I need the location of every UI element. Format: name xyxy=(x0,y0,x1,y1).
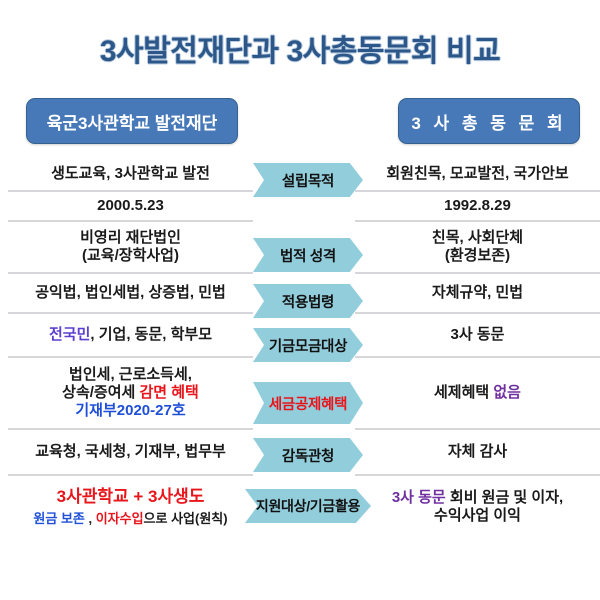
header-right-organization: 3 사 총 동 문 회 xyxy=(398,98,580,144)
left-cell-legal-status-line2: (교육/장학사업) xyxy=(80,247,181,265)
right-cell-applicable-laws: 자체규약, 민법 xyxy=(432,284,523,302)
table-row: 전국민, 기업, 동문, 학부모 xyxy=(8,314,253,358)
left-cell-supervisory-agency: 교육청, 국세청, 기재부, 법무부 xyxy=(35,443,226,461)
table-row: 교육청, 국세청, 기재부, 법무부 xyxy=(8,430,253,476)
center-label-donor-target: 기금모금대상 xyxy=(253,328,363,362)
right-cell-founding-date: 1992.8.29 xyxy=(444,197,511,215)
left-cell-founding-date: 2000.5.23 xyxy=(97,197,164,215)
left-cell-legal-status-line1: 비영리 재단법인 xyxy=(80,229,181,247)
right-cell-purpose: 회원친목, 모교발전, 국가안보 xyxy=(386,165,568,183)
table-row: 비영리 재단법인 (교육/장학사업) xyxy=(8,222,253,274)
center-label-beneficiary: 지원대상/기금활용 xyxy=(245,489,371,523)
left-cell-fund-principle-b: , xyxy=(85,511,96,526)
left-cell-tax-line2b: 감면 혜택 xyxy=(139,384,198,401)
left-cell-donor-target-rest: , 기업, 동문, 학부모 xyxy=(90,326,212,343)
page-title: 3사발전재단과 3사총동문회 비교 xyxy=(0,26,600,70)
left-cell-applicable-laws: 공익법, 법인세법, 상증법, 민법 xyxy=(35,284,226,302)
left-column: 생도교육, 3사관학교 발전 2000.5.23 비영리 재단법인 (교육/장학… xyxy=(8,158,253,538)
right-cell-tax-a: 세제혜택 xyxy=(434,384,493,401)
table-row: 세제혜택 없음 xyxy=(355,358,600,430)
left-cell-fund-principle-c: 이자수입 xyxy=(96,511,144,526)
table-row: 3사 동문 xyxy=(355,314,600,358)
header-left-organization: 육군3사관학교 발전재단 xyxy=(26,98,238,144)
center-label-tax-benefit: 세금공제혜택 xyxy=(253,382,363,424)
table-row: 2000.5.23 xyxy=(8,192,253,222)
table-row: 생도교육, 3사관학교 발전 xyxy=(8,158,253,192)
center-label-legal-status: 법적 성격 xyxy=(253,238,363,272)
right-cell-supervisory-agency: 자체 감사 xyxy=(448,443,507,461)
table-row: 공익법, 법인세법, 상증법, 민법 xyxy=(8,274,253,314)
right-cell-beneficiary-a: 3사 동문 xyxy=(392,489,446,506)
left-cell-fund-principle-d: 으로 사업(원칙) xyxy=(144,511,228,526)
left-cell-tax-line1: 법인세, 근로소득세, xyxy=(62,366,199,384)
right-cell-beneficiary-b: 회비 원금 및 이자, xyxy=(446,489,563,506)
table-row: 자체 감사 xyxy=(355,430,600,476)
comparison-infographic: 3사발전재단과 3사총동문회 비교 육군3사관학교 발전재단 3 사 총 동 문… xyxy=(0,0,600,600)
left-cell-donor-target-highlight: 전국민 xyxy=(49,326,90,343)
left-cell-beneficiary: 3사관학교 + 3사생도 xyxy=(33,487,227,508)
table-row: 자체규약, 민법 xyxy=(355,274,600,314)
right-cell-donor-target: 3사 동문 xyxy=(451,326,505,344)
right-column: 회원친목, 모교발전, 국가안보 1992.8.29 친목, 사회단체 (환경보… xyxy=(355,158,600,538)
table-row: 1992.8.29 xyxy=(355,192,600,222)
right-cell-tax-b: 없음 xyxy=(493,384,521,401)
table-row: 법인세, 근로소득세, 상속/증여세 감면 혜택 기재부2020-27호 xyxy=(8,358,253,430)
left-cell-fund-principle-a: 원금 보존 xyxy=(33,511,84,526)
left-cell-tax-line2a: 상속/증여세 xyxy=(62,384,139,401)
center-label-applicable-laws: 적용법령 xyxy=(253,284,363,318)
left-cell-purpose: 생도교육, 3사관학교 발전 xyxy=(51,165,210,183)
table-row: 회원친목, 모교발전, 국가안보 xyxy=(355,158,600,192)
table-row: 친목, 사회단체 (환경보존) xyxy=(355,222,600,274)
table-row: 3사 동문 회비 원금 및 이자, 수익사업 이익 xyxy=(355,476,600,538)
left-cell-tax-reference: 기재부2020-27호 xyxy=(62,402,199,420)
right-cell-legal-status-line2: (환경보존) xyxy=(432,247,523,265)
center-label-purpose: 설립목적 xyxy=(253,163,363,197)
table-row: 3사관학교 + 3사생도 원금 보존 , 이자수입으로 사업(원칙) xyxy=(8,476,253,538)
center-label-supervisory-agency: 감독관청 xyxy=(253,438,363,472)
right-cell-legal-status-line1: 친목, 사회단체 xyxy=(432,229,523,247)
right-cell-beneficiary-line2: 수익사업 이익 xyxy=(392,507,563,525)
